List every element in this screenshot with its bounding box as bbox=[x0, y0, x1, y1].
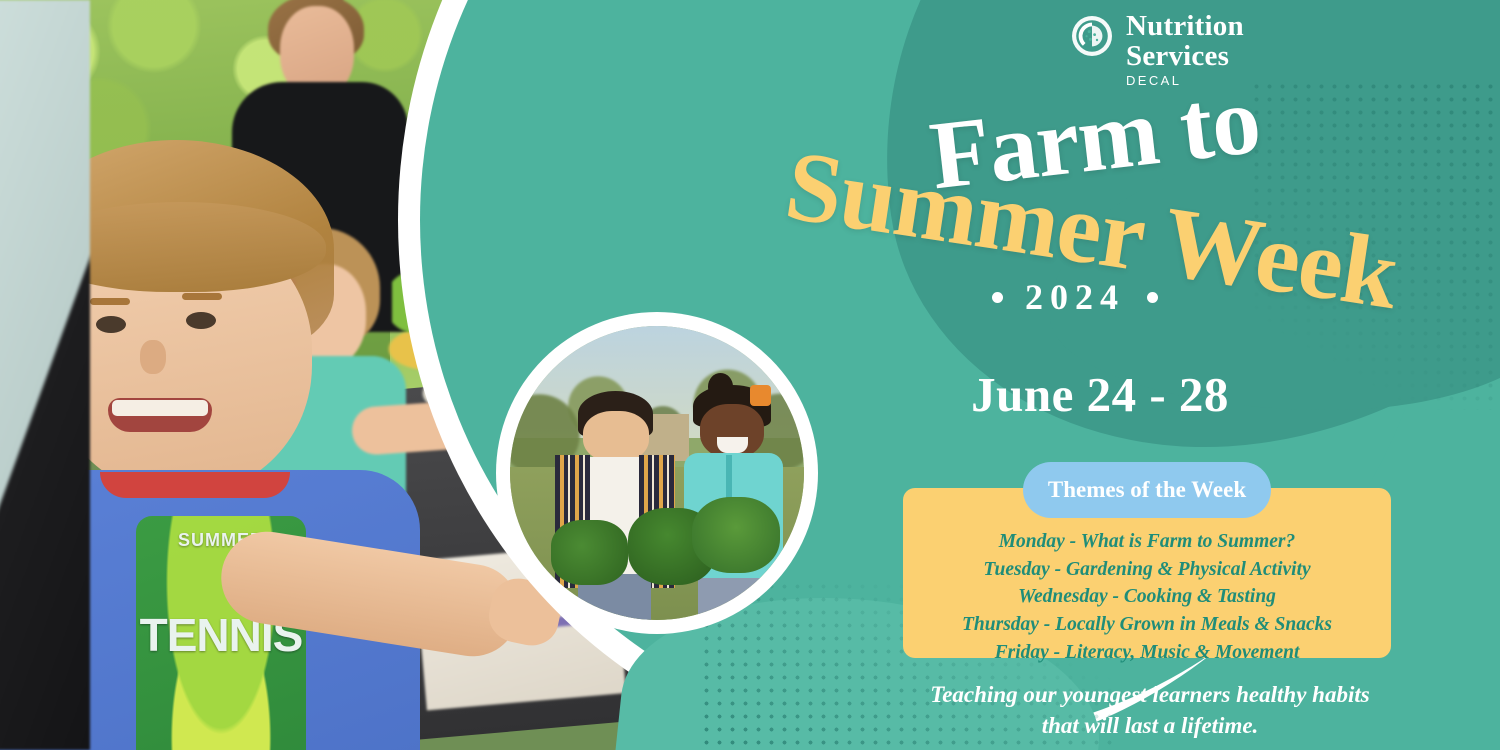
inset-greens-left bbox=[551, 520, 627, 585]
tagline: Teaching our youngest learners healthy h… bbox=[860, 680, 1440, 742]
year-dot-left bbox=[992, 292, 1003, 303]
inset-child-boy bbox=[557, 391, 675, 620]
inset-greens-right bbox=[692, 497, 780, 573]
event-title-group: Farm to Summer Week 2024 bbox=[760, 80, 1500, 340]
tagline-line-2: that will last a lifetime. bbox=[860, 711, 1440, 742]
theme-item-thursday: Thursday - Locally Grown in Meals & Snac… bbox=[903, 611, 1391, 639]
themes-list: Monday - What is Farm to Summer? Tuesday… bbox=[903, 528, 1391, 666]
circular-inset-frame bbox=[496, 312, 818, 634]
nutrition-services-circle-emblem-icon bbox=[1070, 14, 1114, 58]
year-value: 2024 bbox=[1025, 276, 1125, 318]
tagline-line-1: Teaching our youngest learners healthy h… bbox=[860, 680, 1440, 711]
theme-item-monday: Monday - What is Farm to Summer? bbox=[903, 528, 1391, 556]
event-year: 2024 bbox=[992, 276, 1158, 318]
theme-item-wednesday: Wednesday - Cooking & Tasting bbox=[903, 583, 1391, 611]
themes-header-pill: Themes of the Week bbox=[1023, 462, 1271, 518]
farm-to-summer-week-banner: SUMMER TENNIS CLAYTON, GA bbox=[0, 0, 1500, 750]
event-date: June 24 - 28 bbox=[0, 366, 1500, 423]
themes-header-label: Themes of the Week bbox=[1048, 477, 1246, 503]
theme-item-friday: Friday - Literacy, Music & Movement bbox=[903, 639, 1391, 667]
logo-line-nutrition: Nutrition bbox=[1126, 12, 1244, 42]
theme-item-tuesday: Tuesday - Gardening & Physical Activity bbox=[903, 556, 1391, 584]
year-dot-right bbox=[1147, 292, 1158, 303]
